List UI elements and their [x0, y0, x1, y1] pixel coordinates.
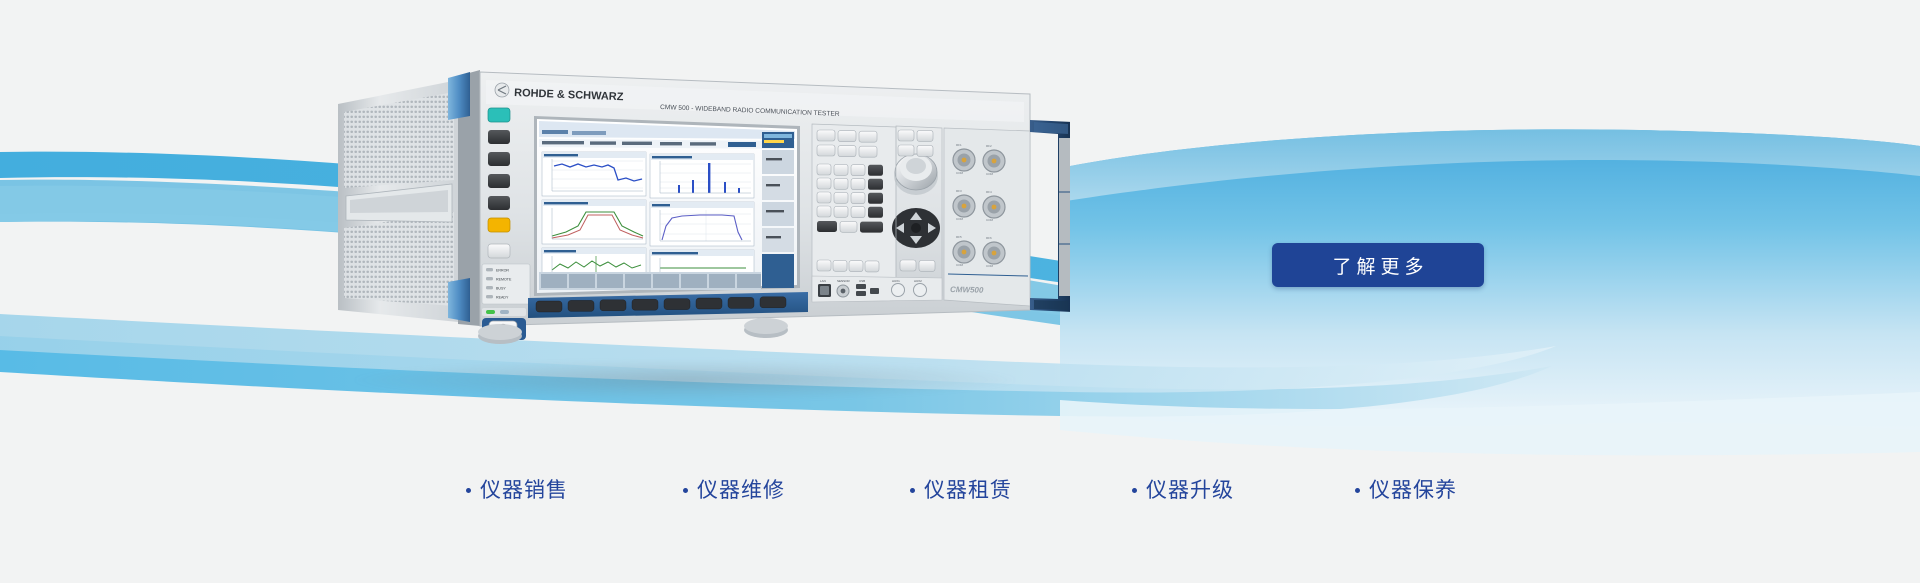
service-link-label: 仪器维修	[697, 480, 785, 501]
service-link-label: 仪器升级	[1146, 480, 1234, 501]
service-link-label: 仪器销售	[480, 480, 568, 501]
service-link-sales[interactable]: 仪器销售	[466, 470, 568, 510]
bullet-icon	[1132, 488, 1137, 493]
svg-text:ERROR: ERROR	[496, 269, 509, 273]
svg-text:COM: COM	[986, 264, 994, 268]
bullet-icon	[1355, 488, 1360, 493]
hero-banner: ROHDE & SCHWARZ CMW 500 - WIDEBAND RADIO…	[0, 0, 1920, 583]
service-link-label: 仪器租赁	[924, 480, 1012, 501]
io-ports: LAN SENSOR USB AUX1 AUX2	[812, 276, 942, 302]
svg-text:USB: USB	[859, 279, 865, 283]
learn-more-button[interactable]: 了解更多	[1272, 243, 1484, 287]
service-link-repair[interactable]: 仪器维修	[683, 470, 785, 510]
service-link-upgrade[interactable]: 仪器升级	[1132, 470, 1234, 510]
svg-text:RF3: RF3	[956, 189, 962, 193]
svg-text:RF6: RF6	[986, 236, 992, 240]
svg-text:READY: READY	[496, 296, 509, 300]
bullet-icon	[466, 488, 471, 493]
bullet-icon	[683, 488, 688, 493]
instrument-display	[534, 116, 800, 296]
svg-text:AUX2: AUX2	[914, 279, 922, 283]
status-led-block: ERROR REMOTE BUSY READY	[482, 264, 530, 304]
rf-connector-module: RF1RF2 RF3RF4 RF5RF6 COMCOM COMCOM COMCO…	[944, 128, 1030, 306]
svg-text:CMW500: CMW500	[950, 285, 984, 295]
bullet-icon	[910, 488, 915, 493]
svg-text:COM: COM	[986, 218, 994, 222]
dpad-icon	[892, 208, 940, 248]
svg-text:RF4: RF4	[986, 190, 992, 194]
svg-text:COM: COM	[956, 263, 964, 267]
ventilation-grille-icon	[338, 80, 458, 322]
service-link-maintenance[interactable]: 仪器保养	[1355, 470, 1457, 510]
svg-text:COM: COM	[986, 172, 994, 176]
svg-text:BUSY: BUSY	[496, 287, 506, 291]
rotary-knob-icon	[894, 154, 938, 195]
display-bottom-tabs	[539, 272, 794, 290]
svg-text:SENSOR: SENSOR	[837, 279, 851, 283]
rohde-schwarz-cmw500-instrument: ROHDE & SCHWARZ CMW 500 - WIDEBAND RADIO…	[330, 60, 1070, 380]
service-links: 仪器销售 仪器维修 仪器租赁 仪器升级 仪器保养	[0, 470, 1920, 510]
svg-text:COM: COM	[956, 171, 964, 175]
svg-text:RF1: RF1	[956, 143, 962, 147]
svg-text:REMOTE: REMOTE	[496, 278, 512, 282]
svg-text:RF2: RF2	[986, 144, 992, 148]
svg-text:COM: COM	[956, 217, 964, 221]
svg-text:AUX1: AUX1	[892, 279, 900, 283]
service-link-label: 仪器保养	[1369, 480, 1457, 501]
service-link-rental[interactable]: 仪器租赁	[910, 470, 1012, 510]
carry-handle-icon	[1030, 120, 1070, 312]
instrument-front-panel: ROHDE & SCHWARZ CMW 500 - WIDEBAND RADIO…	[480, 72, 1070, 340]
svg-text:RF5: RF5	[956, 235, 962, 239]
svg-text:LAN: LAN	[820, 279, 826, 283]
